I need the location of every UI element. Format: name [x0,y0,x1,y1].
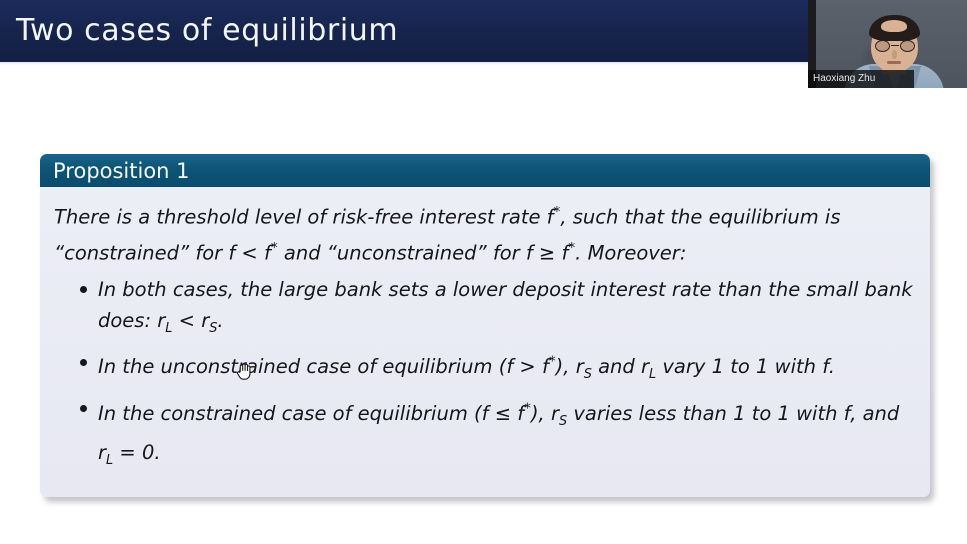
proposition-bullet-3-text: In the constrained case of equilibrium (… [98,402,899,464]
proposition-intro-text: There is a threshold level of risk-free … [54,197,916,268]
page-title: Two cases of equilibrium [16,12,398,50]
bullet-point-icon [80,405,87,412]
bullet-point-icon [80,359,87,366]
participant-name-label: Haoxiang Zhu [813,73,875,85]
proposition-bullet-3: In the constrained case of equilibrium (… [54,393,916,475]
webcam-mouth [887,61,901,64]
proposition-bullet-2-text: In the unconstrained case of equilibrium… [98,355,835,378]
glasses-bridge [891,45,899,46]
proposition-header-bar: Proposition 1 [40,154,930,187]
webcam-forehead [881,20,907,32]
webcam-overlay[interactable]: Haoxiang Zhu [808,0,967,88]
proposition-bullet-1: In both cases, the large bank sets a low… [54,274,916,344]
proposition-title: Proposition 1 [53,158,190,184]
glasses-lens-right [900,40,915,52]
glasses-lens-left [875,40,890,52]
proposition-bullet-1-text: In both cases, the large bank sets a low… [98,278,913,332]
proposition-bullet-list: In both cases, the large bank sets a low… [54,274,916,476]
proposition-intro-line-2: “constrained” for f < f* and “unconstrai… [54,233,916,269]
bullet-point-icon [80,286,87,293]
proposition-bullet-2: In the unconstrained case of equilibrium… [54,347,916,390]
glasses-icon [874,40,916,52]
proposition-block: Proposition 1 There is a threshold level… [40,154,930,497]
proposition-body: There is a threshold level of risk-free … [40,187,930,497]
proposition-intro-line-1: There is a threshold level of risk-free … [54,197,916,233]
